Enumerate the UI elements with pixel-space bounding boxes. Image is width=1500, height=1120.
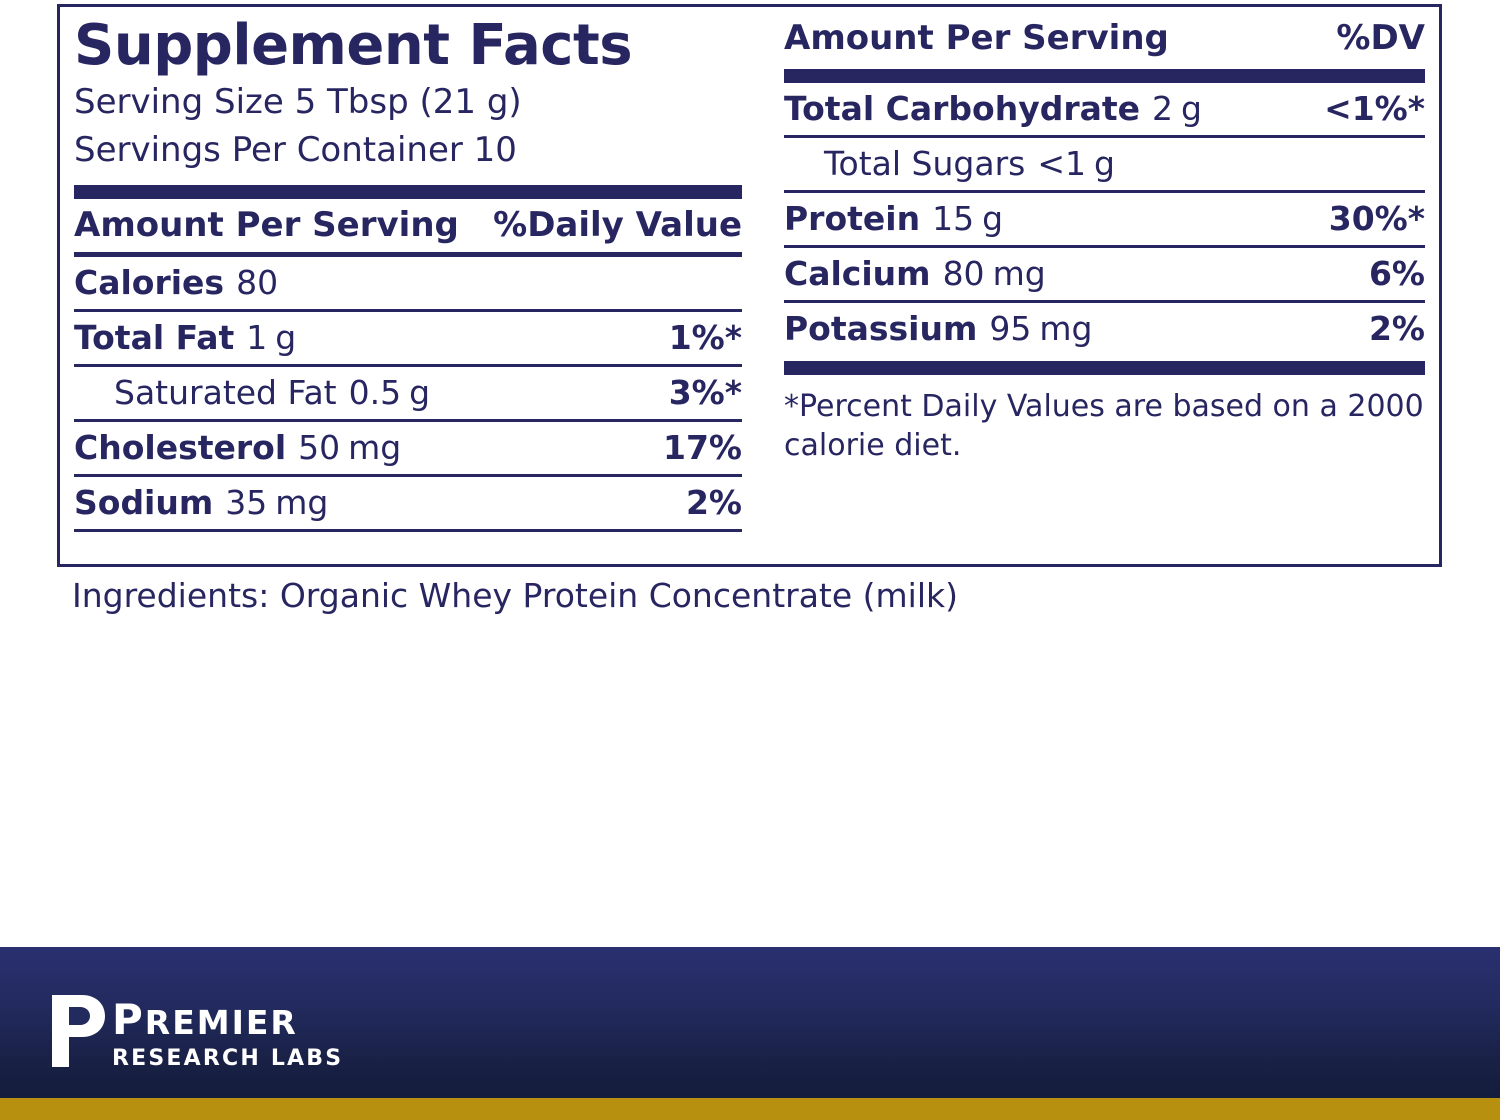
nutrient-dv: 17%	[663, 431, 742, 464]
nutrient-unit: g	[275, 321, 296, 354]
table-row: Total Fat 1 g 1%*	[74, 312, 742, 364]
nutrient-amount: 0.5	[349, 376, 401, 409]
table-row: Calories 80	[74, 257, 742, 309]
servings-per-container-text: Servings Per Container 10	[74, 126, 742, 174]
nutrient-name: Total Carbohydrate	[784, 92, 1140, 125]
nutrient-amount: 2	[1152, 92, 1173, 125]
supplement-facts-left-column: Supplement Facts Serving Size 5 Tbsp (21…	[74, 17, 742, 564]
nutrient-unit: mg	[993, 257, 1046, 290]
nutrient-unit: g	[982, 202, 1003, 235]
divider-thin-left-5	[74, 529, 742, 532]
table-row: Protein 15 g 30%*	[784, 193, 1425, 245]
nutrient-dv: 2%	[1369, 312, 1425, 345]
daily-value-footnote: *Percent Daily Values are based on a 200…	[784, 375, 1425, 465]
nutrient-amount: 15	[932, 202, 974, 235]
ingredients-text: Ingredients: Organic Whey Protein Concen…	[72, 576, 958, 615]
nutrient-amount: 1	[246, 321, 267, 354]
left-header-amount-label: Amount Per Serving	[74, 208, 459, 242]
nutrient-dv: 30%*	[1329, 202, 1425, 235]
table-row: Cholesterol 50 mg 17%	[74, 422, 742, 474]
table-row: Sodium 35 mg 2%	[74, 477, 742, 529]
serving-size-text: Serving Size 5 Tbsp (21 g)	[74, 78, 742, 126]
left-header-dv-label: %Daily Value	[493, 208, 742, 242]
supplement-facts-panel: Supplement Facts Serving Size 5 Tbsp (21…	[57, 4, 1442, 567]
right-column-header-row: Amount Per Serving %DV	[784, 17, 1425, 65]
table-row: Total Carbohydrate 2 g <1%*	[784, 83, 1425, 135]
nutrient-unit: mg	[348, 431, 401, 464]
nutrient-name: Cholesterol	[74, 431, 286, 464]
nutrient-name: Protein	[784, 202, 920, 235]
brand-logo: PREMIER RESEARCH LABS	[48, 993, 343, 1070]
nutrient-amount: <1	[1037, 147, 1086, 180]
nutrient-name: Total Fat	[74, 321, 234, 354]
nutrient-amount: 50	[298, 431, 340, 464]
nutrient-dv: <1%*	[1324, 92, 1425, 125]
left-column-header-row: Amount Per Serving %Daily Value	[74, 199, 742, 252]
table-row: Calcium 80 mg 6%	[784, 248, 1425, 300]
supplement-facts-right-column: Amount Per Serving %DV Total Carbohydrat…	[784, 17, 1425, 564]
column-gap	[742, 17, 784, 564]
table-row: Saturated Fat 0.5 g 3%*	[74, 367, 742, 419]
footer-gold-strip	[0, 1098, 1500, 1120]
divider-thick-right	[784, 69, 1425, 83]
nutrient-name: Sodium	[74, 486, 213, 519]
supplement-facts-columns: Supplement Facts Serving Size 5 Tbsp (21…	[60, 7, 1439, 564]
brand-logo-text: PREMIER RESEARCH LABS	[112, 993, 343, 1070]
nutrient-unit: g	[409, 376, 430, 409]
page-title: Supplement Facts	[74, 17, 742, 74]
nutrient-dv: 2%	[686, 486, 742, 519]
nutrient-name: Saturated Fat	[114, 376, 337, 409]
right-header-amount-label: Amount Per Serving	[784, 21, 1169, 55]
nutrient-name: Potassium	[784, 312, 977, 345]
nutrient-name: Calcium	[784, 257, 931, 290]
nutrient-unit: mg	[275, 486, 328, 519]
nutrient-unit: g	[1181, 92, 1202, 125]
brand-name-rest: REMIER	[145, 1003, 298, 1042]
nutrient-name: Total Sugars	[824, 147, 1025, 180]
divider-thick-right-bottom	[784, 361, 1425, 375]
brand-initial: P	[112, 995, 145, 1044]
nutrient-unit: mg	[1039, 312, 1092, 345]
nutrient-dv: 1%*	[669, 321, 742, 354]
right-header-dv-label: %DV	[1336, 21, 1425, 55]
nutrient-amount: 95	[989, 312, 1031, 345]
table-row: Total Sugars <1 g	[784, 138, 1425, 190]
nutrient-amount: 35	[225, 486, 267, 519]
table-row: Potassium 95 mg 2%	[784, 303, 1425, 355]
premier-p-icon	[48, 993, 106, 1069]
nutrient-dv: 6%	[1369, 257, 1425, 290]
divider-thick-left	[74, 185, 742, 199]
nutrient-name: Calories	[74, 266, 224, 299]
nutrient-amount: 80	[236, 266, 278, 299]
brand-name: PREMIER	[112, 999, 343, 1041]
brand-tagline: RESEARCH LABS	[112, 1048, 343, 1070]
nutrient-unit: g	[1094, 147, 1115, 180]
nutrient-amount: 80	[943, 257, 985, 290]
nutrient-dv: 3%*	[669, 376, 742, 409]
